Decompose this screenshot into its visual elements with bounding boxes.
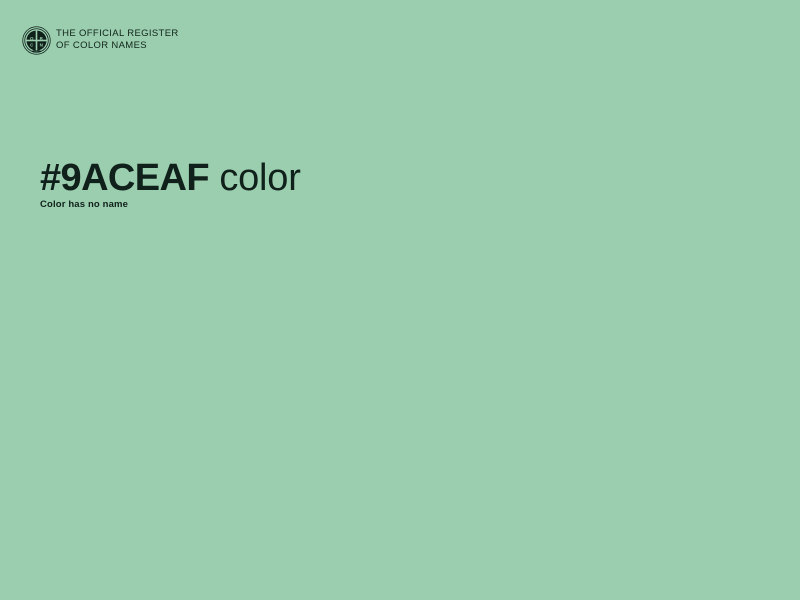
brand-lockup[interactable]: O R C N THE OFFICIAL REGISTER OF COLOR N… [22, 26, 179, 55]
color-swatch-background [0, 0, 800, 600]
color-page: O R C N THE OFFICIAL REGISTER OF COLOR N… [0, 0, 800, 600]
brand-line-2: OF COLOR NAMES [56, 40, 179, 52]
orcn-seal-icon: O R C N [22, 26, 51, 55]
brand-line-1: THE OFFICIAL REGISTER [56, 28, 179, 40]
svg-text:N: N [40, 42, 43, 47]
color-name-status: Color has no name [40, 199, 128, 211]
brand-wordmark: THE OFFICIAL REGISTER OF COLOR NAMES [56, 26, 179, 51]
title-suffix-label: color [209, 157, 301, 199]
title-suffix-text: color [219, 157, 300, 199]
page-title: #9ACEAF color [40, 156, 301, 200]
hex-code-label: #9ACEAF [40, 157, 209, 199]
svg-text:O: O [30, 36, 34, 41]
